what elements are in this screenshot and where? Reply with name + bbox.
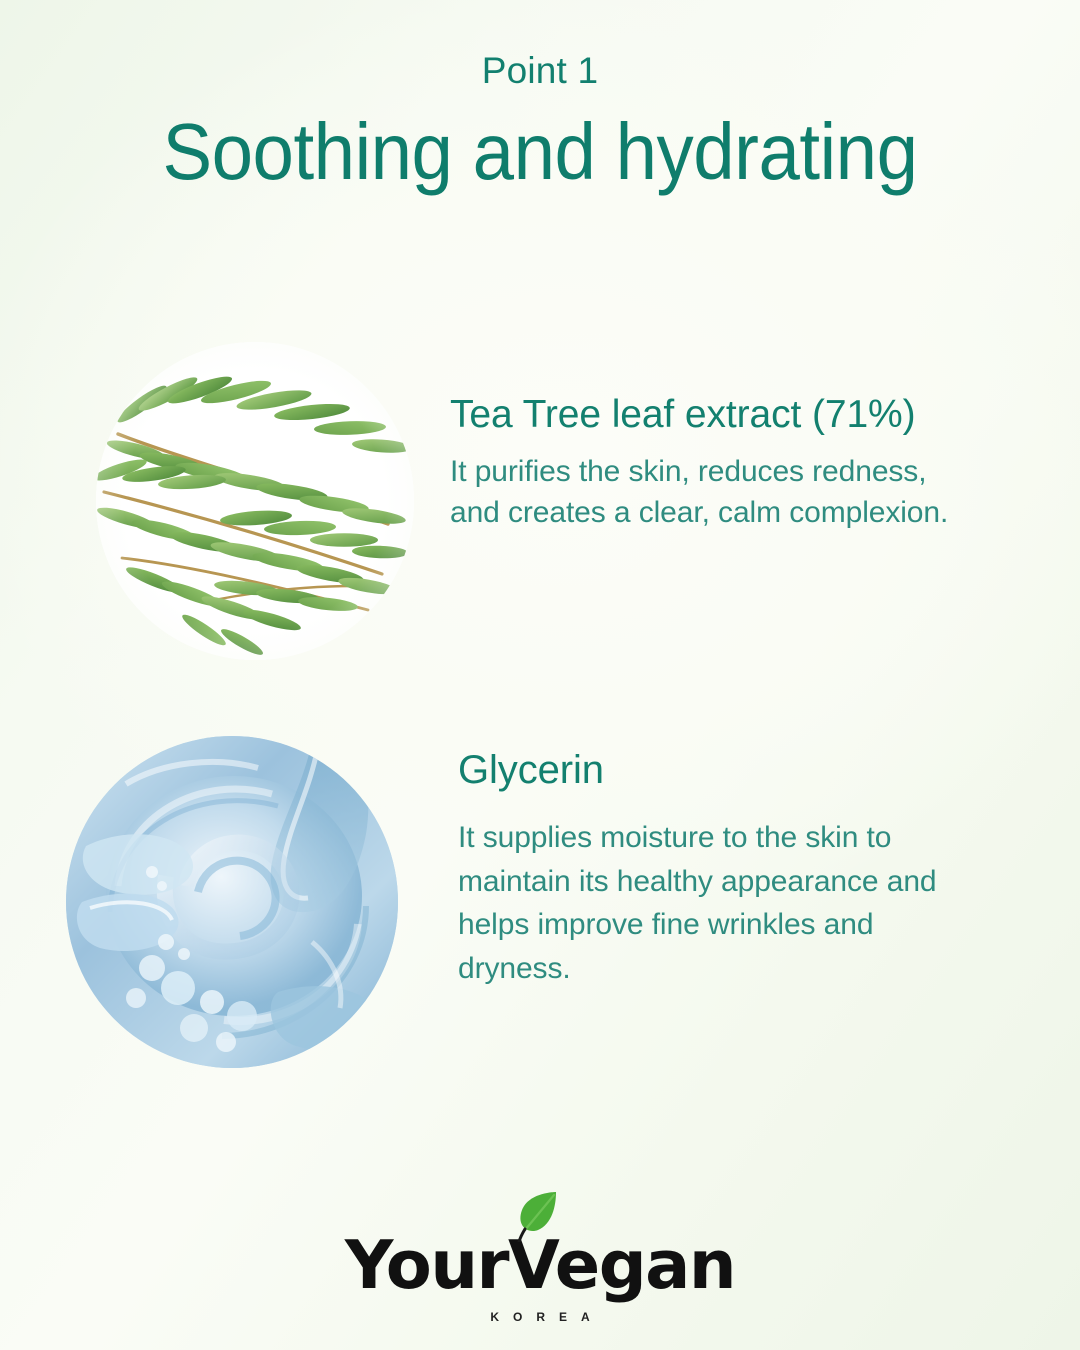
tea-tree-title: Tea Tree leaf extract (71%) bbox=[450, 394, 1010, 437]
tea-tree-illustration bbox=[96, 342, 414, 660]
glycerin-thumbnail bbox=[66, 736, 398, 1068]
glycerin-gel-photo bbox=[66, 736, 398, 1068]
glycerin-illustration bbox=[66, 736, 398, 1068]
promo-page: Point 1 Soothing and hydrating bbox=[0, 0, 1080, 1350]
tea-tree-leaf-photo bbox=[96, 342, 414, 660]
glycerin-description: It supplies moisture to the skin to main… bbox=[458, 816, 1016, 990]
point-label: Point 1 bbox=[0, 52, 1080, 89]
ingredient-row-tea-tree: Tea Tree leaf extract (71%) It purifies … bbox=[96, 342, 1016, 660]
page-title: Soothing and hydrating bbox=[38, 110, 1042, 195]
glycerin-copy: Glycerin It supplies moisture to the ski… bbox=[458, 736, 1016, 990]
logo-subtitle: KOREA bbox=[345, 1311, 735, 1323]
glycerin-title: Glycerin bbox=[458, 748, 1016, 792]
tea-tree-description: It purifies the skin, reduces redness, a… bbox=[450, 451, 1010, 534]
ingredient-row-glycerin: Glycerin It supplies moisture to the ski… bbox=[66, 736, 1016, 1068]
logo-wrap: YourVegan KOREA bbox=[345, 1232, 735, 1323]
logo-wordmark: YourVegan bbox=[345, 1232, 735, 1299]
tea-tree-thumbnail bbox=[96, 342, 414, 660]
page-header: Point 1 Soothing and hydrating bbox=[0, 0, 1080, 195]
brand-logo: YourVegan KOREA bbox=[0, 1232, 1080, 1326]
tea-tree-copy: Tea Tree leaf extract (71%) It purifies … bbox=[450, 342, 1010, 534]
